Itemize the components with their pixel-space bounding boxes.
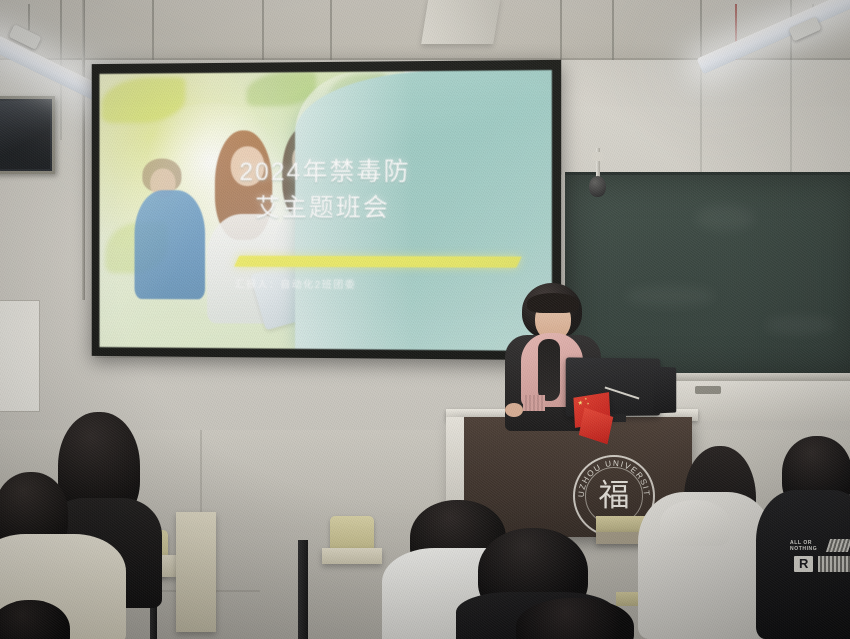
- jacket-stripe: [826, 539, 850, 552]
- wall-monitor: [0, 96, 55, 174]
- slide-title: 2024年禁毒防艾主题班会: [239, 154, 521, 226]
- desk-side: [176, 512, 216, 632]
- wall-conduit: [82, 0, 85, 300]
- light-hanger: [28, 4, 30, 30]
- presenter-collar: [538, 339, 560, 401]
- scarf-fringe: [523, 395, 545, 411]
- desk-leg: [298, 540, 308, 639]
- jacket-badge: R: [794, 556, 813, 572]
- projection-screen-frame: 2024年禁毒防艾主题班会 汇报人：自动化2班团委: [92, 60, 561, 360]
- microphone-clip: [592, 152, 603, 161]
- ceiling-duct: [421, 0, 501, 44]
- presenter-fringe: [527, 293, 579, 313]
- microphone-icon: [589, 176, 606, 197]
- slide-accent-bar: [234, 256, 522, 268]
- wall-seam: [700, 60, 702, 172]
- jacket-print-text: ALL ORNOTHING: [790, 540, 817, 553]
- jacket-stripe: [818, 556, 850, 572]
- eraser: [695, 386, 721, 394]
- presenter-hand: [505, 403, 523, 417]
- wall-monitor-screen: [0, 101, 50, 169]
- slide-title-line1: 2024年禁毒防: [239, 158, 410, 186]
- secondary-display: [653, 367, 676, 414]
- slide-subtitle: 汇报人：自动化2班团委: [235, 275, 517, 291]
- projection-screen: 2024年禁毒防艾主题班会 汇报人：自动化2班团委: [100, 70, 552, 351]
- seal-character: 福: [599, 481, 630, 512]
- classroom-photo: 2024年禁毒防艾主题班会 汇报人：自动化2班团委 FUZHOU UNIVERS…: [0, 0, 850, 639]
- wall-seam: [790, 60, 792, 172]
- wall-panel-box: [0, 300, 40, 412]
- chalkboard: [565, 172, 850, 380]
- hoodie-hood: [660, 500, 730, 546]
- desk: [322, 548, 382, 564]
- slide-title-line2: 艾主题班会: [239, 190, 521, 226]
- chair-back: [330, 516, 374, 552]
